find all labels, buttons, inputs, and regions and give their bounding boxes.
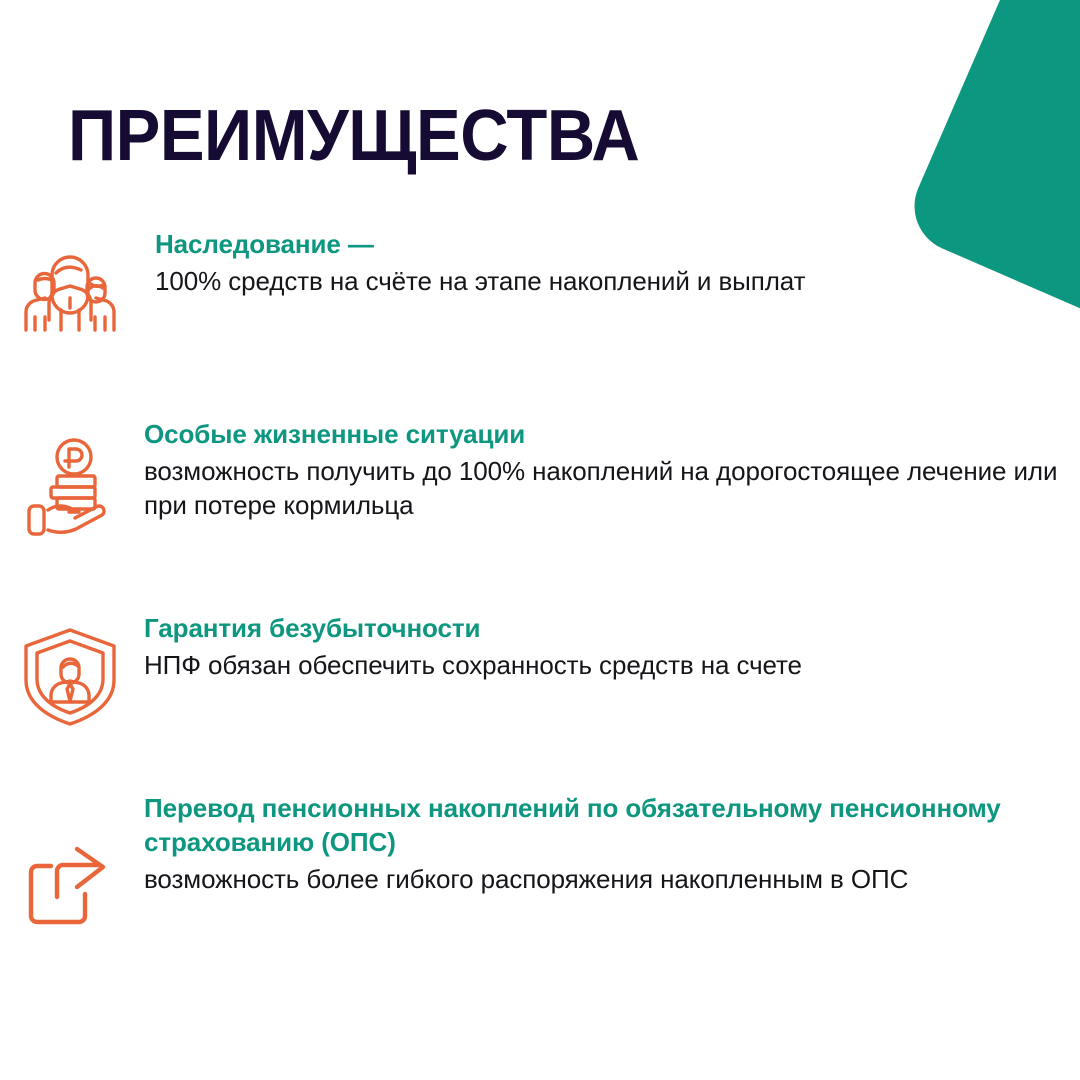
hand-with-ruble-coins-icon xyxy=(0,418,140,536)
page-title: ПРЕИМУЩЕСТВА xyxy=(68,100,639,172)
benefit-text-special-situations: Особые жизненные ситуации возможность по… xyxy=(140,418,1080,522)
benefit-item-guarantee: Гарантия безубыточности НПФ обязан обесп… xyxy=(0,612,1080,726)
benefit-heading: Перевод пенсионных накоплений по обязате… xyxy=(144,792,1080,860)
benefit-item-inheritance: Наследование — 100% средств на счёте на … xyxy=(0,228,1080,334)
benefit-text-transfer: Перевод пенсионных накоплений по обязате… xyxy=(140,792,1080,896)
benefit-heading: Наследование — xyxy=(155,228,1080,262)
benefit-heading: Гарантия безубыточности xyxy=(144,612,1080,646)
benefit-text-guarantee: Гарантия безубыточности НПФ обязан обесп… xyxy=(140,612,1080,682)
export-arrow-icon xyxy=(0,792,140,930)
benefit-item-transfer: Перевод пенсионных накоплений по обязате… xyxy=(0,792,1080,930)
shield-with-person-icon xyxy=(0,612,140,726)
family-group-icon xyxy=(0,228,140,334)
benefit-text-inheritance: Наследование — 100% средств на счёте на … xyxy=(140,228,1080,298)
slide-root: ПРЕИМУЩЕСТВА xyxy=(0,0,1080,1080)
benefit-body: НПФ обязан обеспечить сохранность средст… xyxy=(144,648,1080,682)
benefit-heading: Особые жизненные ситуации xyxy=(144,418,1080,452)
benefits-list: Наследование — 100% средств на счёте на … xyxy=(0,228,1080,930)
benefit-item-special-situations: Особые жизненные ситуации возможность по… xyxy=(0,418,1080,536)
benefit-body: 100% средств на счёте на этапе накоплени… xyxy=(155,264,1080,298)
benefit-body: возможность получить до 100% накоплений … xyxy=(144,454,1080,523)
benefit-body: возможность более гибкого распоряжения н… xyxy=(144,862,1080,896)
